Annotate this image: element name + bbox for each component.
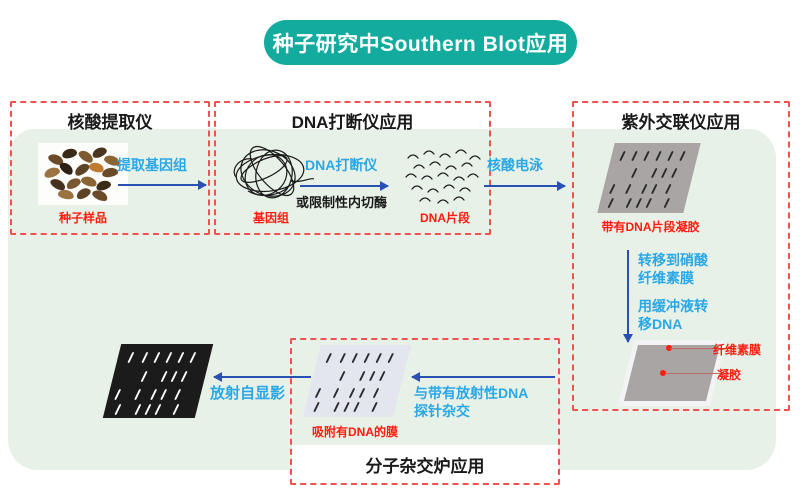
transfer-line-2: 纤维素膜 <box>638 270 694 286</box>
step-label-dna-shearer: DNA打断仪 <box>305 157 377 175</box>
seed-sample-image <box>38 143 128 205</box>
label-dna-fragments: DNA片段 <box>404 209 486 226</box>
page-title: 种子研究中Southern Blot应用 <box>264 20 577 65</box>
diagram-canvas: 种子研究中Southern Blot应用 核酸提取仪 DNA打断仪应用 紫外交联… <box>0 0 800 504</box>
step-label-extract-genome: 提取基因组 <box>117 157 187 175</box>
arrow-transfer-to-membrane <box>623 250 633 342</box>
step-label-transfer-to-membrane: 转移到硝酸 纤维素膜 <box>638 252 708 287</box>
label-membrane-with-dna: 吸附有DNA的膜 <box>300 423 410 440</box>
dna-fragments-illustration <box>404 148 484 206</box>
callout-label-cellulose-membrane: 纤维素膜 <box>713 341 761 358</box>
step-label-autoradiography: 放射自显影 <box>210 385 285 404</box>
label-gel-with-fragments: 带有DNA片段凝胶 <box>588 218 713 235</box>
panel-title-hybridization-oven: 分子杂交炉应用 <box>290 452 560 477</box>
autoradiograph-film <box>103 344 213 418</box>
arrow-extract-genome <box>118 180 206 190</box>
step-label-restriction-enzyme: 或限制性内切酶 <box>296 192 387 211</box>
buffer-line-2: 移DNA <box>638 316 682 332</box>
arrow-dna-shearing <box>300 181 388 191</box>
callout-label-gel: 凝胶 <box>717 366 741 383</box>
panel-title-dna-shearer: DNA打断仪应用 <box>214 108 491 133</box>
transfer-line-1: 转移到硝酸 <box>638 252 708 268</box>
step-label-hybridize-probe: 与带有放射性DNA 探针杂交 <box>414 385 528 420</box>
arrow-autoradiography <box>214 372 311 382</box>
buffer-line-1: 用缓冲液转 <box>638 298 708 314</box>
hybridize-line-1: 与带有放射性DNA <box>414 385 528 401</box>
arrow-hybridize-probe <box>412 372 555 382</box>
panel-title-nucleic-acid-extractor: 核酸提取仪 <box>10 108 210 133</box>
label-genome: 基因组 <box>228 209 314 226</box>
step-label-buffer-transfer: 用缓冲液转 移DNA <box>638 298 708 333</box>
label-seed-sample: 种子样品 <box>38 209 128 226</box>
panel-title-uv-crosslinker: 紫外交联仪应用 <box>572 108 790 133</box>
gel-with-dna-fragments <box>597 143 700 213</box>
membrane-with-dna <box>303 345 411 417</box>
step-label-electrophoresis: 核酸电泳 <box>487 157 543 175</box>
arrow-electrophoresis <box>484 181 565 191</box>
hybridize-line-2: 探针杂交 <box>414 403 470 419</box>
